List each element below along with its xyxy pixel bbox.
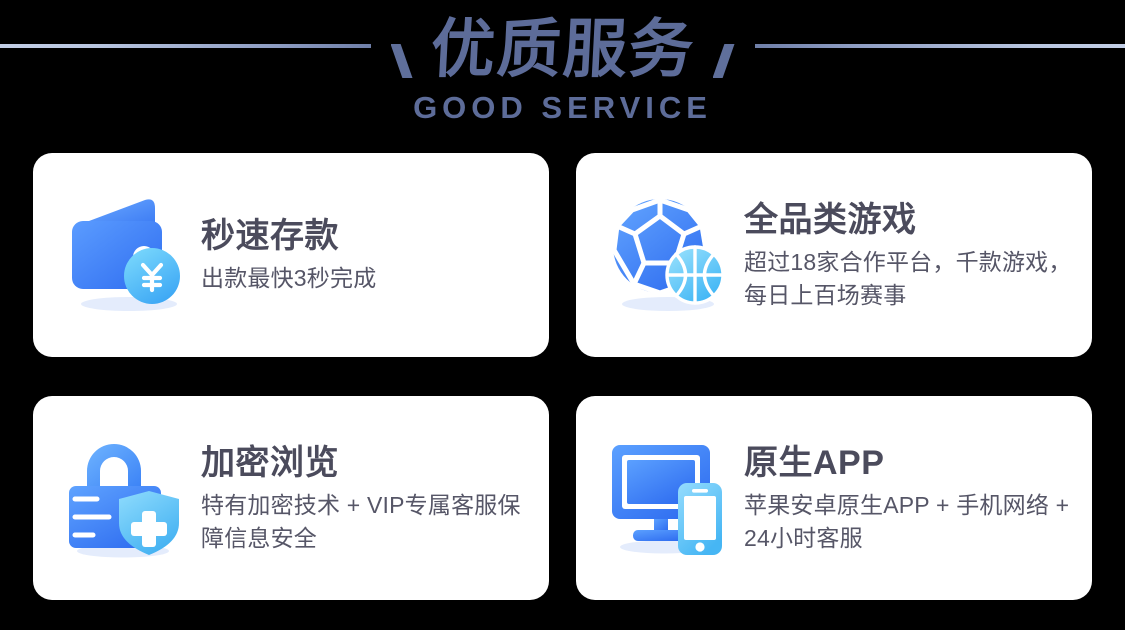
gradient-rule-left-icon bbox=[0, 26, 413, 66]
card-description: 苹果安卓原生APP + 手机网络 + 24小时客服 bbox=[744, 489, 1076, 555]
wallet-yen-icon bbox=[59, 188, 193, 322]
card-text-block: 全品类游戏 超过18家合作平台，千款游戏，每日上百场赛事 bbox=[736, 199, 1076, 312]
card-text-block: 秒速存款 出款最快3秒完成 bbox=[193, 215, 533, 295]
card-text-block: 加密浏览 特有加密技术 + VIP专属客服保障信息安全 bbox=[193, 442, 533, 555]
card-title: 秒速存款 bbox=[201, 215, 533, 257]
feature-card-games[interactable]: 全品类游戏 超过18家合作平台，千款游戏，每日上百场赛事 bbox=[576, 153, 1092, 357]
page-subtitle: GOOD SERVICE bbox=[413, 90, 712, 126]
monitor-phone-icon bbox=[602, 431, 736, 565]
rule-left-tick-icon bbox=[391, 44, 413, 78]
banner-header: 优质服务 GOOD SERVICE bbox=[0, 0, 1125, 150]
card-text-block: 原生APP 苹果安卓原生APP + 手机网络 + 24小时客服 bbox=[736, 442, 1076, 555]
card-description: 超过18家合作平台，千款游戏，每日上百场赛事 bbox=[744, 246, 1076, 312]
feature-card-deposit[interactable]: 秒速存款 出款最快3秒完成 bbox=[33, 153, 549, 357]
feature-card-native-app[interactable]: 原生APP 苹果安卓原生APP + 手机网络 + 24小时客服 bbox=[576, 396, 1092, 600]
rule-left-bar bbox=[0, 44, 371, 48]
card-title: 全品类游戏 bbox=[744, 199, 1076, 241]
feature-card-grid: 秒速存款 出款最快3秒完成 bbox=[33, 153, 1092, 600]
gradient-rule-right-icon bbox=[713, 26, 1125, 66]
header-decorative-rules bbox=[0, 0, 1125, 92]
card-title: 原生APP bbox=[744, 442, 1076, 484]
feature-card-encryption[interactable]: 加密浏览 特有加密技术 + VIP专属客服保障信息安全 bbox=[33, 396, 549, 600]
lock-shield-icon bbox=[59, 431, 193, 565]
soccer-basketball-icon bbox=[602, 188, 736, 322]
card-description: 特有加密技术 + VIP专属客服保障信息安全 bbox=[201, 489, 533, 555]
promo-banner: 优质服务 GOOD SERVICE bbox=[0, 0, 1125, 630]
rule-right-tick-icon bbox=[713, 44, 735, 78]
card-description: 出款最快3秒完成 bbox=[201, 262, 531, 295]
card-title: 加密浏览 bbox=[201, 442, 533, 484]
rule-right-bar bbox=[755, 44, 1125, 48]
